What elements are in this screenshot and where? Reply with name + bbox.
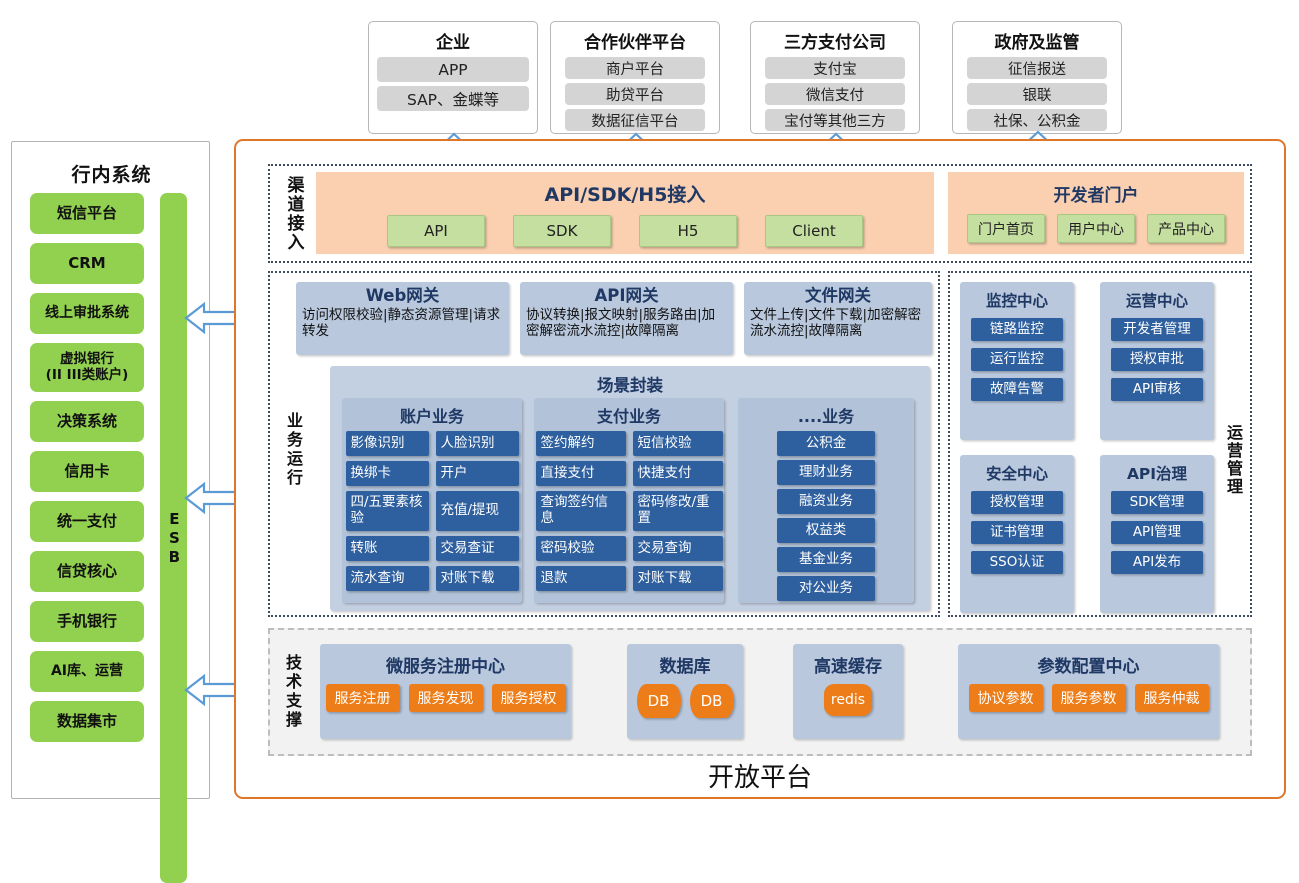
technical-support-label: 技术支撑	[276, 640, 308, 744]
top-box-item[interactable]: 助贷平台	[565, 83, 705, 105]
sidebar-title: 行内系统	[12, 160, 211, 187]
ops-chip[interactable]: 授权审批	[1111, 348, 1203, 371]
tech-card-title: 数据库	[627, 652, 743, 677]
scene-chip[interactable]: 基金业务	[777, 547, 875, 572]
sidebar-item-label: 线上审批系统	[45, 306, 129, 322]
scene-chip[interactable]: 理财业务	[777, 460, 875, 485]
portal-chip-product-center[interactable]: 产品中心	[1147, 214, 1225, 243]
tech-chip-service-register[interactable]: 服务注册	[326, 684, 400, 712]
tech-chip-service-param[interactable]: 服务参数	[1052, 684, 1126, 712]
scene-chip[interactable]: 退款	[536, 566, 626, 591]
scene-chip[interactable]: 权益类	[777, 518, 875, 543]
top-box-item[interactable]: 社保、公积金	[967, 109, 1107, 131]
top-box-partner-platform[interactable]: 合作伙伴平台 商户平台 助贷平台 数据征信平台	[550, 21, 720, 134]
gateway-title: Web网关	[302, 286, 503, 306]
tech-card-title: 微服务注册中心	[320, 652, 571, 677]
tech-card-microservice-registry[interactable]: 微服务注册中心 服务注册 服务发现 服务授权	[320, 644, 571, 739]
scene-chip[interactable]: 流水查询	[346, 566, 429, 591]
top-box-enterprise[interactable]: 企业 APP SAP、金蝶等	[368, 21, 538, 134]
ops-card-title: 运营中心	[1100, 289, 1214, 311]
top-box-item[interactable]: 微信支付	[765, 83, 905, 105]
ops-chip[interactable]: 开发者管理	[1111, 318, 1203, 341]
ops-chip[interactable]: API管理	[1111, 521, 1203, 544]
scene-chip[interactable]: 换绑卡	[346, 461, 429, 486]
top-box-government-regulator[interactable]: 政府及监管 征信报送 银联 社保、公积金	[952, 21, 1122, 134]
api-sdk-h5-access-band: API/SDK/H5接入 API SDK H5 Client	[316, 172, 934, 254]
gateway-card-web[interactable]: Web网关 访问权限校验|静态资源管理|请求转发	[296, 282, 509, 355]
gateway-title: API网关	[526, 286, 727, 306]
top-box-title: 合作伙伴平台	[551, 28, 719, 53]
sidebar-item-label: 虚拟银行 (II III类账户)	[46, 352, 129, 382]
tech-chip-protocol-param[interactable]: 协议参数	[969, 684, 1043, 712]
top-box-item[interactable]: 银联	[967, 83, 1107, 105]
scene-chip[interactable]: 密码校验	[536, 536, 626, 561]
scene-card-payment[interactable]: 支付业务 签约解约 直接支付 查询签约信息 密码校验 退款 短信校验 快捷支付 …	[534, 398, 724, 603]
sidebar-system-list: 短信平台 CRM 线上审批系统 虚拟银行 (II III类账户) 决策系统 信用…	[30, 193, 144, 751]
ops-card-security-center[interactable]: 安全中心 授权管理 证书管理 SSO认证	[960, 455, 1074, 613]
tech-card-database[interactable]: 数据库 DB DB	[627, 644, 743, 739]
top-box-item[interactable]: SAP、金蝶等	[377, 86, 529, 111]
scene-chip[interactable]: 交易查证	[436, 536, 519, 561]
scene-encapsulation-title: 场景封装	[330, 372, 930, 396]
ops-chip[interactable]: 故障告警	[971, 378, 1063, 401]
channel-chip-h5[interactable]: H5	[639, 215, 737, 247]
sidebar-item-virtual-bank[interactable]: 虚拟银行 (II III类账户)	[30, 343, 144, 392]
scene-chip[interactable]: 直接支付	[536, 461, 626, 486]
scene-chip[interactable]: 签约解约	[536, 431, 626, 456]
scene-chip[interactable]: 查询签约信息	[536, 491, 626, 531]
technical-support-label-text: 技术支撑	[280, 654, 304, 730]
top-box-item[interactable]: APP	[377, 57, 529, 82]
ops-card-title: 监控中心	[960, 289, 1074, 311]
scene-card-title: 账户业务	[342, 403, 522, 427]
esb-bar: ESB	[160, 193, 187, 883]
ops-chip[interactable]: SSO认证	[971, 551, 1063, 574]
operations-management-label-text: 运营管理	[1221, 424, 1245, 496]
scene-card-title: 支付业务	[534, 403, 724, 427]
ops-chip[interactable]: 链路监控	[971, 318, 1063, 341]
top-box-item[interactable]: 数据征信平台	[565, 109, 705, 131]
scene-chip[interactable]: 充值/提现	[436, 491, 519, 531]
tech-card-title: 参数配置中心	[958, 652, 1219, 677]
database-icon[interactable]: DB	[637, 684, 681, 718]
scene-chip[interactable]: 人脸识别	[436, 431, 519, 456]
developer-portal-band: 开发者门户 门户首页 用户中心 产品中心	[948, 172, 1244, 254]
redis-icon[interactable]: redis	[824, 684, 872, 716]
business-running-label: 业务运行	[276, 380, 310, 520]
top-box-item[interactable]: 支付宝	[765, 57, 905, 79]
channel-chip-client[interactable]: Client	[765, 215, 863, 247]
top-box-title: 政府及监管	[953, 28, 1121, 53]
sidebar-item-data-mart[interactable]: 数据集市	[30, 701, 144, 742]
gateway-desc: 协议转换|报文映射|服务路由|加密解密流水流控|故障隔离	[526, 308, 727, 340]
scene-chip[interactable]: 密码修改/重置	[633, 491, 723, 531]
platform-title: 开放平台	[234, 757, 1286, 794]
scene-chip[interactable]: 交易查询	[633, 536, 723, 561]
channel-access-label-text: 渠道接入	[282, 176, 307, 252]
sidebar-item-ai-library[interactable]: AI库、运营	[30, 651, 144, 692]
tech-card-parameter-config[interactable]: 参数配置中心 协议参数 服务参数 服务仲裁	[958, 644, 1219, 739]
sidebar-item-mobile-bank[interactable]: 手机银行	[30, 601, 144, 642]
portal-chip-user-center[interactable]: 用户中心	[1057, 214, 1135, 243]
gateway-card-api[interactable]: API网关 协议转换|报文映射|服务路由|加密解密流水流控|故障隔离	[520, 282, 733, 355]
top-box-title: 企业	[369, 28, 537, 53]
ops-card-title: 安全中心	[960, 462, 1074, 484]
tech-card-cache[interactable]: 高速缓存 redis	[793, 644, 903, 739]
ops-card-operations-center[interactable]: 运营中心 开发者管理 授权审批 API审核	[1100, 282, 1214, 440]
api-sdk-h5-title: API/SDK/H5接入	[316, 180, 934, 207]
scene-chip[interactable]: 对公业务	[777, 576, 875, 601]
ops-chip[interactable]: 授权管理	[971, 491, 1063, 514]
scene-chip[interactable]: 融资业务	[777, 489, 875, 514]
sidebar-item-credit-card[interactable]: 信用卡	[30, 451, 144, 492]
channel-chip-api[interactable]: API	[387, 215, 485, 247]
esb-label: ESB	[166, 510, 182, 567]
gateway-title: 文件网关	[750, 286, 926, 306]
top-box-item[interactable]: 商户平台	[565, 57, 705, 79]
tech-chip-service-discovery[interactable]: 服务发现	[409, 684, 483, 712]
top-box-item[interactable]: 宝付等其他三方	[765, 109, 905, 131]
scene-chip[interactable]: 公积金	[777, 431, 875, 456]
developer-portal-title: 开发者门户	[948, 181, 1244, 206]
scene-chip[interactable]: 开户	[436, 461, 519, 486]
scene-chip[interactable]: 对账下载	[633, 566, 723, 591]
top-box-title: 三方支付公司	[751, 28, 919, 53]
scene-chip[interactable]: 快捷支付	[633, 461, 723, 486]
ops-card-monitoring-center[interactable]: 监控中心 链路监控 运行监控 故障告警	[960, 282, 1074, 440]
internal-systems-panel: 行内系统 短信平台 CRM 线上审批系统 虚拟银行 (II III类账户) 决策…	[11, 141, 210, 799]
scene-card-account[interactable]: 账户业务 影像识别 换绑卡 四/五要素核验 转账 流水查询 人脸识别 开户 充值…	[342, 398, 522, 603]
scene-chip[interactable]: 转账	[346, 536, 429, 561]
scene-chip[interactable]: 四/五要素核验	[346, 491, 429, 531]
ops-chip[interactable]: API发布	[1111, 551, 1203, 574]
sidebar-item-sms-platform[interactable]: 短信平台	[30, 193, 144, 234]
portal-chip-home[interactable]: 门户首页	[967, 214, 1045, 243]
channel-access-label: 渠道接入	[276, 170, 312, 258]
scene-chip[interactable]: 对账下载	[436, 566, 519, 591]
scene-card-other[interactable]: ....业务 公积金 理财业务 融资业务 权益类 基金业务 对公业务	[738, 398, 914, 603]
ops-chip[interactable]: 运行监控	[971, 348, 1063, 371]
scene-chip[interactable]: 短信校验	[633, 431, 723, 456]
ops-chip[interactable]: API审核	[1111, 378, 1203, 401]
gateway-card-file[interactable]: 文件网关 文件上传|文件下载|加密解密流水流控|故障隔离	[744, 282, 932, 355]
gateway-desc: 访问权限校验|静态资源管理|请求转发	[302, 308, 503, 340]
ops-chip[interactable]: 证书管理	[971, 521, 1063, 544]
tech-card-title: 高速缓存	[793, 652, 903, 677]
sidebar-item-decision-system[interactable]: 决策系统	[30, 401, 144, 442]
ops-card-title: API治理	[1100, 462, 1214, 484]
ops-chip[interactable]: SDK管理	[1111, 491, 1203, 514]
operations-management-label: 运营管理	[1218, 400, 1248, 520]
sidebar-item-credit-core[interactable]: 信贷核心	[30, 551, 144, 592]
tech-chip-service-authorization[interactable]: 服务授权	[492, 684, 566, 712]
scene-chip[interactable]: 影像识别	[346, 431, 429, 456]
sidebar-item-online-approval[interactable]: 线上审批系统	[30, 293, 144, 334]
scene-card-title: ....业务	[738, 403, 914, 427]
top-box-item[interactable]: 征信报送	[967, 57, 1107, 79]
ops-card-api-governance[interactable]: API治理 SDK管理 API管理 API发布	[1100, 455, 1214, 613]
business-running-label-text: 业务运行	[281, 412, 305, 488]
sidebar-item-crm[interactable]: CRM	[30, 243, 144, 284]
database-icon[interactable]: DB	[690, 684, 734, 718]
scene-encapsulation-card: 场景封装 账户业务 影像识别 换绑卡 四/五要素核验 转账 流水查询 人脸识别 …	[330, 366, 930, 611]
gateway-desc: 文件上传|文件下载|加密解密流水流控|故障隔离	[750, 308, 926, 340]
top-box-third-party-payment[interactable]: 三方支付公司 支付宝 微信支付 宝付等其他三方	[750, 21, 920, 134]
sidebar-item-unified-payment[interactable]: 统一支付	[30, 501, 144, 542]
tech-chip-service-arbitration[interactable]: 服务仲裁	[1135, 684, 1209, 712]
channel-chip-sdk[interactable]: SDK	[513, 215, 611, 247]
